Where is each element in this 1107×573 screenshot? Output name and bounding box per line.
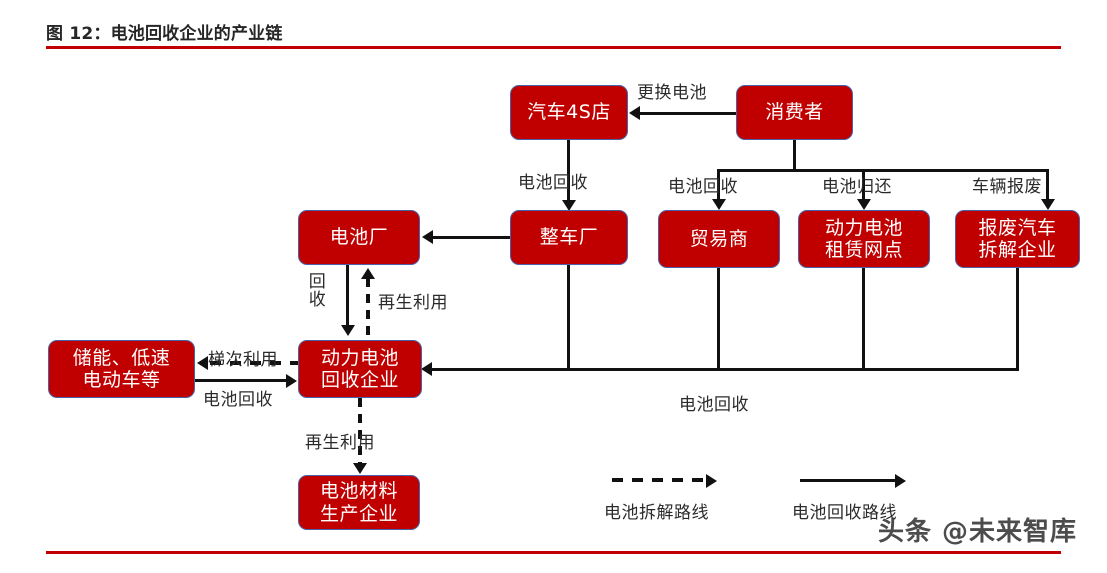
edge-label-vehicle-scrap: 车辆报废 [972, 172, 1042, 197]
arrowhead-recycler-to-material [353, 463, 367, 474]
node-vehicle-plant[interactable]: 整车厂 [510, 210, 628, 265]
node-label: 汽车4S店 [527, 101, 611, 123]
edge-vehicle-plant-to-battery-plant [433, 236, 511, 239]
edge-label-battery-recycle-bus: 电池回收 [679, 390, 749, 415]
arrowhead-storage-to-recycler [286, 374, 297, 388]
edge-trader-drop [717, 268, 720, 370]
node-battery-leasing-outlet[interactable]: 动力电池 租赁网点 [798, 210, 930, 268]
node-label-line1: 动力电池 [321, 347, 399, 369]
node-label-line2: 电动车等 [82, 369, 160, 391]
edge-storage-to-recycler [195, 379, 287, 382]
edge-label-battery-return: 电池归还 [822, 172, 892, 197]
arrowhead-battery-plant-to-recycler [341, 325, 355, 336]
edge-recycler-to-battery-plant-dashed [366, 278, 370, 340]
node-label-line2: 租赁网点 [825, 239, 903, 261]
node-label: 电池厂 [330, 226, 389, 248]
node-label-line1: 电池材料 [320, 480, 398, 502]
node-battery-plant[interactable]: 电池厂 [298, 210, 420, 265]
legend-solid-arrow [800, 479, 896, 482]
node-trader[interactable]: 贸易商 [658, 210, 780, 268]
figure-divider-bottom [46, 551, 1061, 554]
node-consumer[interactable]: 消费者 [736, 85, 853, 140]
arrowhead-vehicle-plant-to-battery-plant [422, 230, 433, 244]
node-label-line2: 回收企业 [321, 369, 399, 391]
watermark: 头条 @未来智库 [878, 511, 1077, 548]
arrowhead-bus-to-recycler [421, 362, 432, 376]
node-label-line2: 生产企业 [320, 503, 398, 525]
edge-leasing-drop [862, 268, 865, 370]
arrowhead-bus-to-dismantler [1041, 199, 1055, 210]
edge-consumer-stem [793, 140, 796, 172]
legend-solid-arrowhead [895, 474, 906, 488]
edge-lower-collection-bus [432, 368, 1019, 371]
figure-canvas: 图 12：电池回收企业的产业链 汽车4S店 消费者 电池厂 整车厂 贸易商 动力… [0, 0, 1107, 573]
node-battery-material-producer[interactable]: 电池材料 生产企业 [298, 475, 420, 530]
arrowhead-bus-to-trader [712, 199, 726, 210]
title-divider-top [46, 46, 1061, 49]
node-auto-4s-store[interactable]: 汽车4S店 [510, 85, 628, 140]
node-label-line1: 储能、低速 [73, 347, 171, 369]
edge-label-regeneration-up: 再生利用 [378, 288, 448, 313]
node-scrap-vehicle-dismantler[interactable]: 报废汽车 拆解企业 [955, 210, 1080, 268]
node-label-line1: 报废汽车 [978, 217, 1056, 239]
edge-bus-to-dismantler [1046, 169, 1049, 201]
arrowhead-consumer-to-4s [629, 106, 640, 120]
node-label: 消费者 [765, 101, 824, 123]
page-title: 图 12：电池回收企业的产业链 [46, 19, 283, 44]
edge-label-battery-recycle-4s: 电池回收 [518, 168, 588, 193]
edge-label-regeneration-down: 再生利用 [305, 428, 375, 453]
edge-battery-plant-to-recycler [346, 265, 349, 327]
node-energy-storage-lsev[interactable]: 储能、低速 电动车等 [48, 340, 195, 398]
edge-label-battery-recycle-storage: 电池回收 [203, 385, 273, 410]
edge-vehicle-plant-drop [567, 265, 570, 370]
legend-dashed-arrow [612, 478, 706, 482]
node-label-line1: 动力电池 [825, 217, 903, 239]
arrowhead-recycler-to-battery-plant [361, 268, 375, 279]
edge-label-recycle-vertical: 回收 [308, 274, 327, 310]
arrowhead-bus-to-leasing [857, 199, 871, 210]
node-label: 贸易商 [690, 228, 749, 250]
node-label-line2: 拆解企业 [978, 239, 1056, 261]
legend-dashed-arrowhead [706, 474, 717, 488]
edge-label-battery-recycle-trader: 电池回收 [668, 172, 738, 197]
arrowhead-recycler-to-storage [197, 356, 208, 370]
node-battery-recycling-enterprise[interactable]: 动力电池 回收企业 [298, 340, 422, 398]
edge-dismantler-drop [1016, 268, 1019, 370]
edge-consumer-to-4s [640, 112, 736, 115]
node-label: 整车厂 [540, 226, 599, 248]
legend-dashed-label: 电池拆解路线 [604, 498, 709, 523]
edge-label-replace-battery: 更换电池 [637, 78, 707, 103]
edge-label-cascade-use: 梯次利用 [208, 345, 278, 370]
